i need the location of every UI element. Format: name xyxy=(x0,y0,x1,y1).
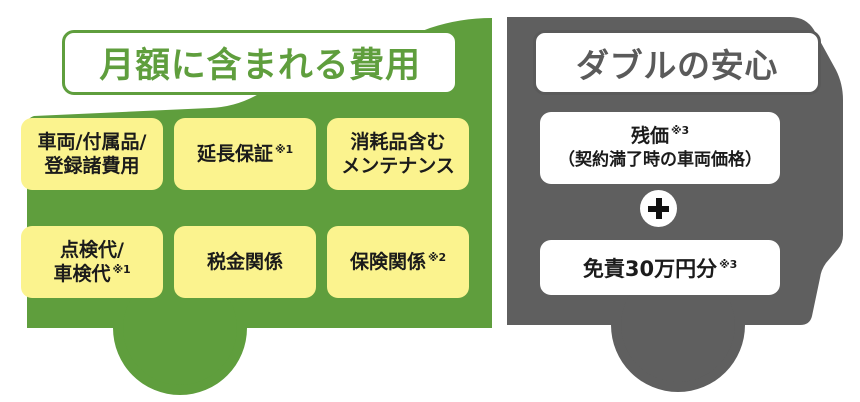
cost-item-line: 車検代 xyxy=(54,263,111,285)
cost-item-extended-warranty[interactable]: 延長保証※1 xyxy=(174,118,316,190)
cost-item-line: 延長保証 xyxy=(197,143,273,165)
residual-value-sublabel: （契約満了時の車両価格） xyxy=(558,149,762,172)
footnote-marker: ※3 xyxy=(671,124,689,137)
cost-item-line: 税金関係 xyxy=(207,251,283,273)
cost-item-tax[interactable]: 税金関係 xyxy=(174,226,316,298)
right-panel-title: ダブルの安心 xyxy=(533,30,821,95)
footnote-marker: ※1 xyxy=(275,143,293,156)
deductible-box[interactable]: 免責30万円分※3 xyxy=(540,240,780,295)
footnote-marker: ※2 xyxy=(428,251,446,264)
cost-item-line: 消耗品含む xyxy=(350,131,445,153)
residual-value-box[interactable]: 残価※3 （契約満了時の車両価格） xyxy=(540,112,780,184)
cost-item-insurance[interactable]: 保険関係※2 xyxy=(327,226,469,298)
deductible-text: 免責30万円分 xyxy=(583,257,717,281)
cost-item-line: 点検代/ xyxy=(60,239,124,261)
cost-item-line: 保険関係 xyxy=(350,251,426,273)
cost-item-maintenance[interactable]: 消耗品含む メンテナンス xyxy=(327,118,469,190)
cost-item-vehicle[interactable]: 車両/付属品/ 登録諸費用 xyxy=(21,118,163,190)
residual-value-label: 残価※3 xyxy=(631,124,689,150)
plus-icon-vertical-bar xyxy=(656,198,662,219)
footnote-marker: ※1 xyxy=(113,263,131,276)
cost-item-line: 車両/付属品/ xyxy=(38,131,147,153)
footnote-marker: ※3 xyxy=(719,258,737,271)
infographic-canvas: 月額に含まれる費用 車両/付属品/ 登録諸費用 延長保証※1 消耗品含む メンテ… xyxy=(0,0,860,402)
plus-icon xyxy=(640,190,677,227)
residual-value-text: 残価 xyxy=(631,125,669,147)
cost-item-line: メンテナンス xyxy=(341,155,455,177)
cost-item-inspection[interactable]: 点検代/ 車検代※1 xyxy=(21,226,163,298)
cost-item-line: 登録諸費用 xyxy=(44,155,139,177)
left-panel-title: 月額に含まれる費用 xyxy=(62,30,458,95)
deductible-label: 免責30万円分※3 xyxy=(583,253,737,283)
